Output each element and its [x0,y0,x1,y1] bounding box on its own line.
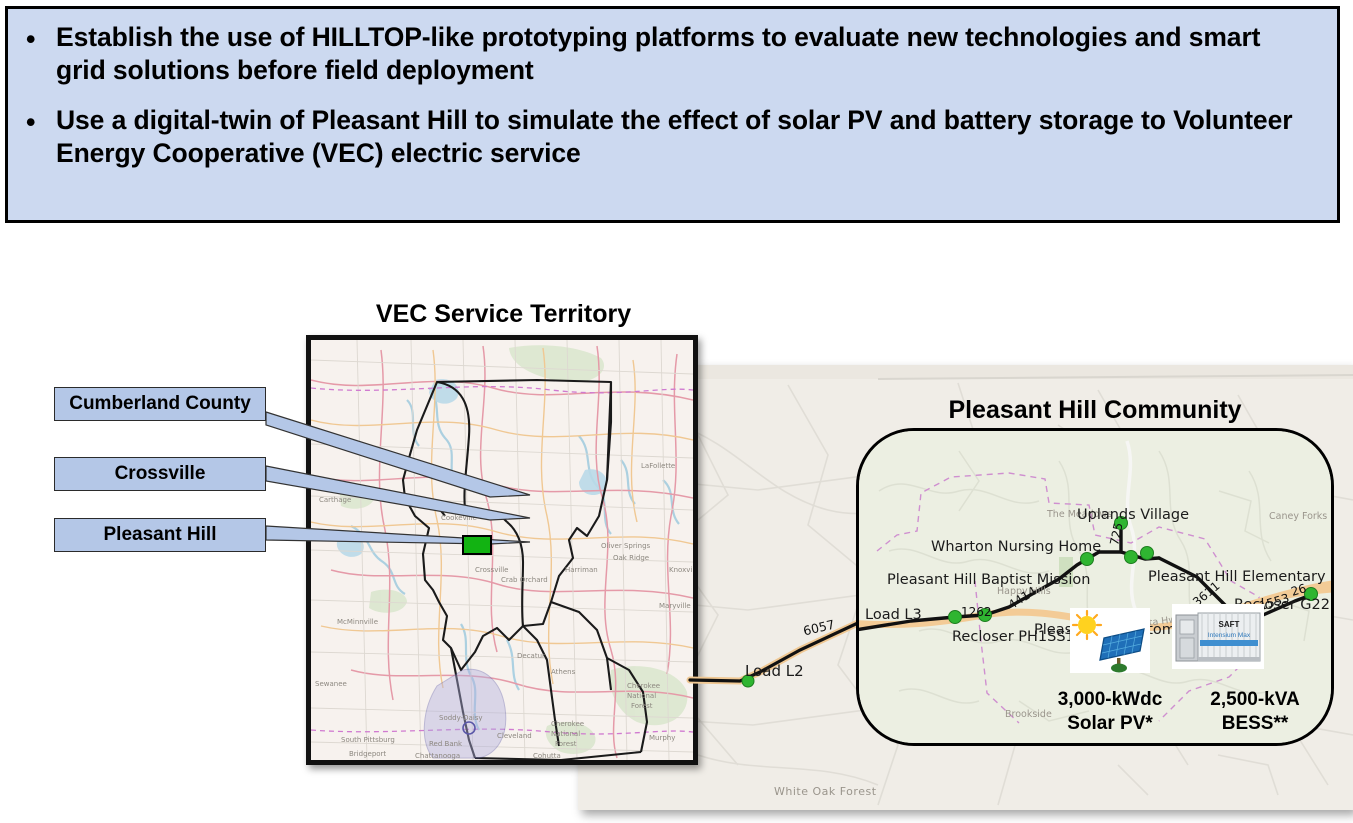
map-place-label: White Oak Forest [774,785,877,798]
svg-text:Cohutta: Cohutta [533,752,561,760]
callout-crossville: Crossville [54,457,266,491]
bullet-text: Establish the use of HILLTOP-like protot… [56,21,1311,88]
svg-text:Forest: Forest [555,740,577,748]
svg-text:Oliver Springs: Oliver Springs [601,542,651,550]
bess-caption: 2,500-kVA BESS** [1160,688,1350,736]
solar-pv-illustration [1070,608,1150,673]
vec-map-graphics: Carthage Cookeville LaFollette Oliver Sp… [311,340,693,760]
line-label-1262: 1262 [961,605,992,619]
node-label-pleasant-hill-baptist-mission: Pleasant Hill Baptist Mission [887,572,1090,588]
svg-text:Intensium Max: Intensium Max [1208,632,1251,639]
objectives-text-box: • Establish the use of HILLTOP-like prot… [5,6,1340,223]
list-item: • Use a digital-twin of Pleasant Hill to… [26,104,1311,171]
node-label-load-l3: Load L3 [865,607,922,623]
svg-text:Harriman: Harriman [565,566,598,574]
svg-text:Crab Orchard: Crab Orchard [501,576,548,584]
callout-label: Pleasant Hill [104,524,217,546]
svg-text:McMinnville: McMinnville [337,618,378,626]
svg-text:Bridgeport: Bridgeport [349,750,386,758]
bess-photo: SAFT Intensium Max [1172,604,1264,669]
svg-text:Chattanooga: Chattanooga [415,752,460,760]
callout-label: Crossville [115,463,206,485]
svg-text:Oak Ridge: Oak Ridge [613,554,649,562]
svg-text:Cherokee: Cherokee [551,720,584,728]
bess-name: BESS** [1160,712,1350,736]
svg-text:Athens: Athens [551,668,576,676]
objectives-list: • Establish the use of HILLTOP-like prot… [8,9,1337,171]
svg-text:Sewanee: Sewanee [315,680,347,688]
svg-text:Carthage: Carthage [319,496,351,504]
svg-text:National: National [627,692,656,700]
svg-text:Murphy: Murphy [649,734,675,742]
callout-label: Cumberland County [69,393,251,415]
map-faint-label: Caney Forks [1269,511,1327,522]
pleasant-hill-community-title: Pleasant Hill Community [860,396,1330,425]
svg-text:Cherokee: Cherokee [627,682,660,690]
bullet-marker-icon: • [26,21,56,57]
pleasant-hill-location-marker [462,535,492,555]
bullet-marker-icon: • [26,104,56,140]
bess-container-illustration: SAFT Intensium Max [1172,604,1264,669]
svg-text:LaFollette: LaFollette [641,462,675,470]
node-label-uplands-village: Uplands Village [1077,507,1189,523]
svg-text:Maryville: Maryville [659,602,691,610]
solar-pv-photo [1070,608,1150,673]
svg-text:Knoxville: Knoxville [669,566,693,574]
svg-text:Decatur: Decatur [517,652,545,660]
list-item: • Establish the use of HILLTOP-like prot… [26,21,1311,88]
node-label-pleasant-hill-elementary-school: Pleasant Hill Elementary School [1148,569,1334,585]
svg-text:Cookeville: Cookeville [441,514,477,522]
svg-text:Red Bank: Red Bank [429,740,463,748]
callout-pleasant-hill: Pleasant Hill [54,518,266,552]
node-label-load-l2: Load L2 [745,662,804,680]
bess-rating: 2,500-kVA [1160,688,1350,712]
svg-text:South Pittsburg: South Pittsburg [341,736,395,744]
svg-text:National: National [551,730,580,738]
node-label-recloser-ph1ss1: Recloser PH1SS1 [952,629,1075,645]
bullet-text: Use a digital-twin of Pleasant Hill to s… [56,104,1311,171]
node-label-wharton-nursing-home: Wharton Nursing Home [931,539,1101,555]
svg-text:Crossville: Crossville [475,566,508,574]
svg-text:Cleveland: Cleveland [497,732,532,740]
vec-service-territory-map: Carthage Cookeville LaFollette Oliver Sp… [306,335,698,765]
svg-text:SAFT: SAFT [1219,620,1240,629]
callout-cumberland-county: Cumberland County [54,387,266,421]
svg-text:Forest: Forest [631,702,653,710]
svg-text:Soddy-Daisy: Soddy-Daisy [439,714,483,722]
vec-map-title: VEC Service Territory [306,300,701,329]
